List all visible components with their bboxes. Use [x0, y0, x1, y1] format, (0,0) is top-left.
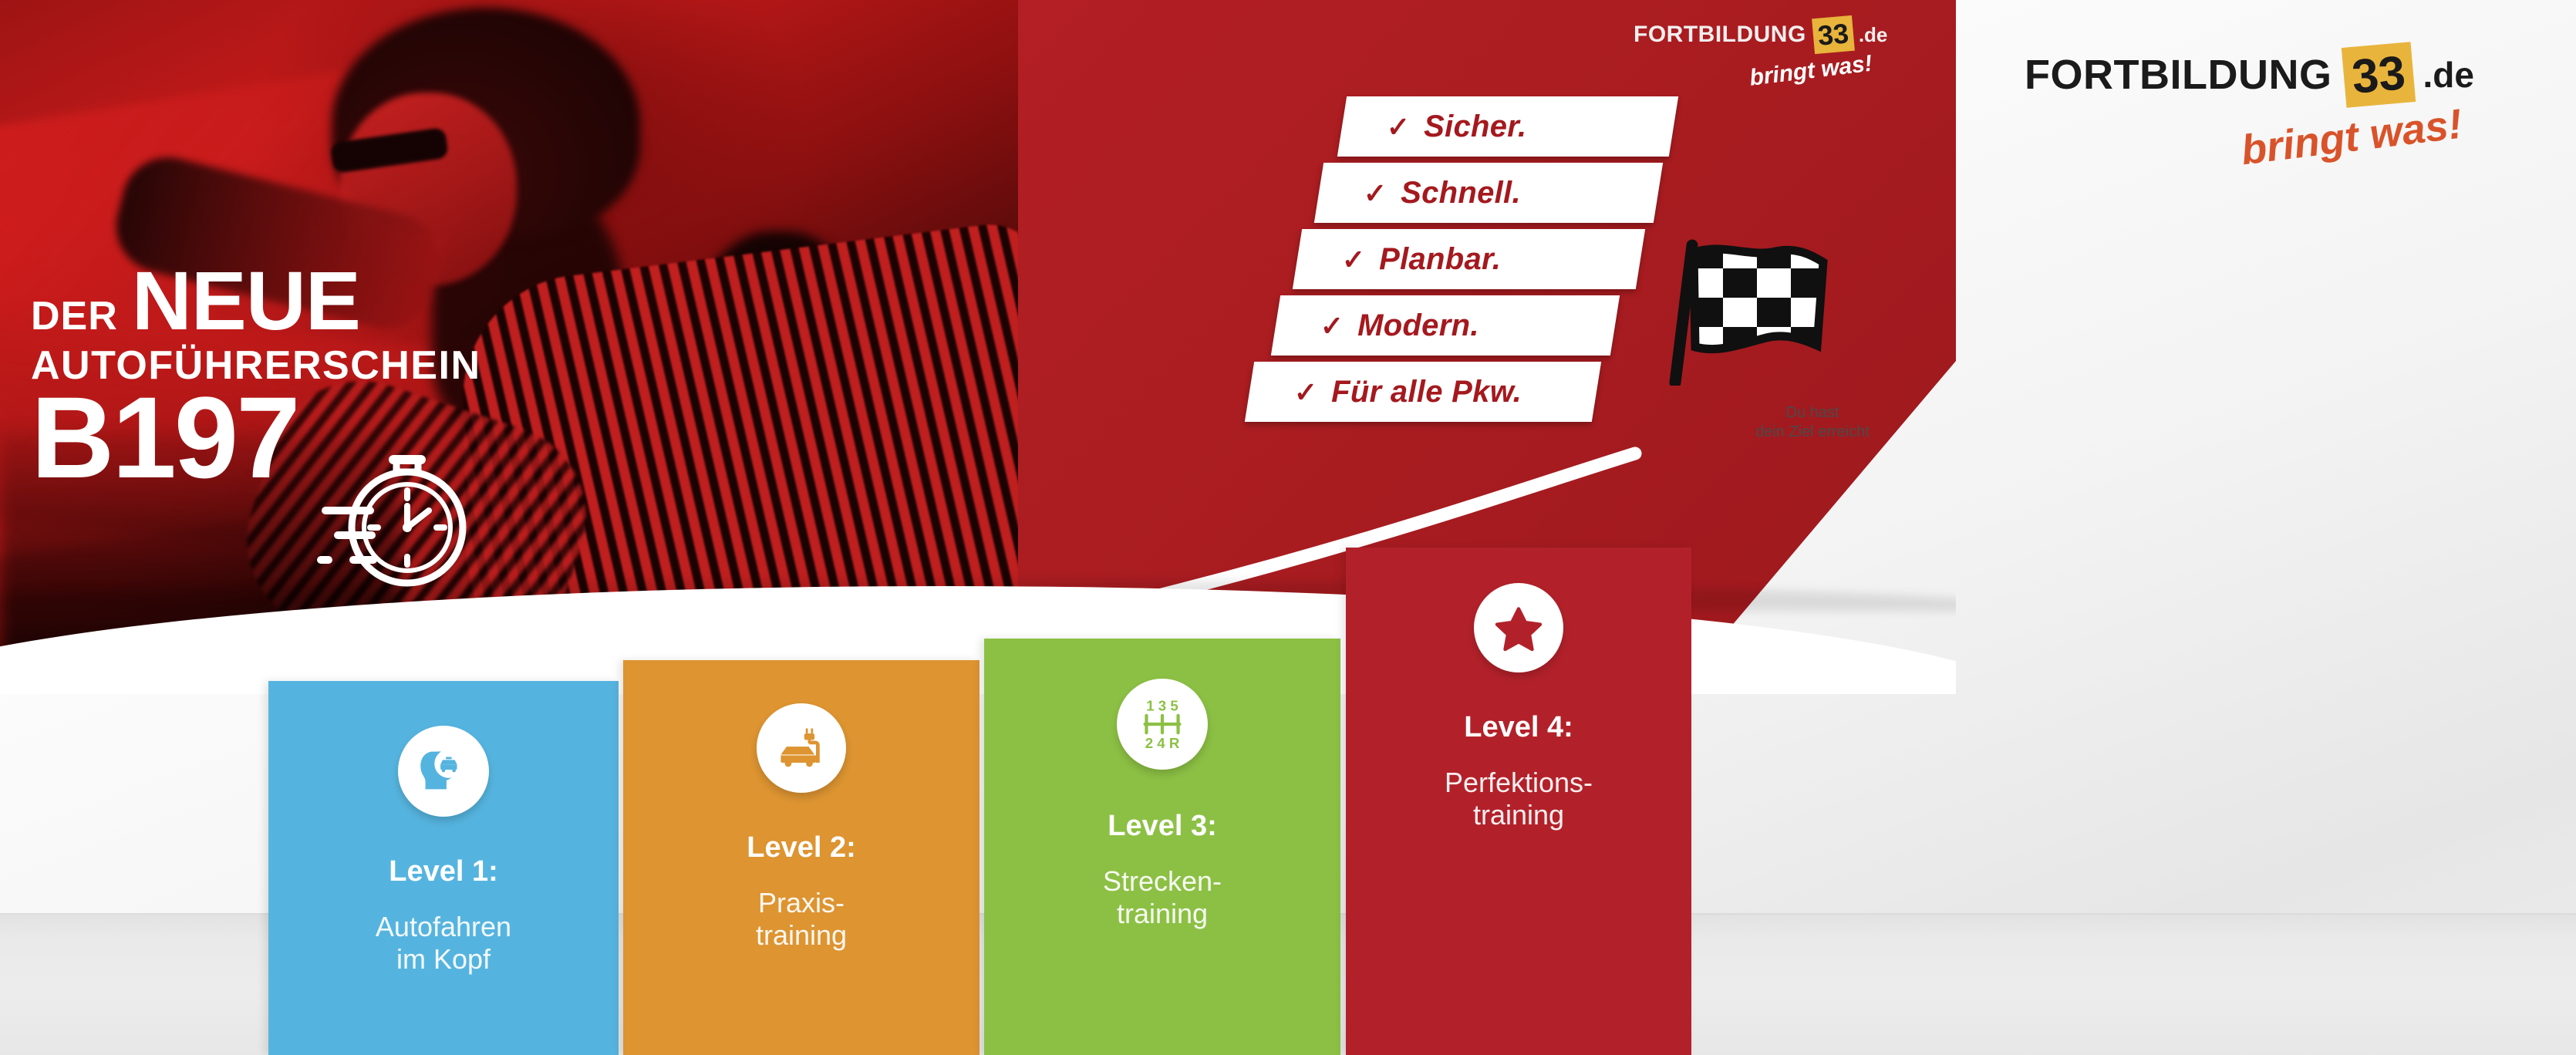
level-card-title: Level 3:	[984, 810, 1340, 843]
check-icon: ✓	[1294, 376, 1317, 408]
level-card-subtitle: Strecken- training	[984, 865, 1340, 931]
checklist-item: ✓Für alle Pkw.	[1245, 362, 1601, 422]
checkered-flag-icon	[1658, 231, 1836, 386]
level-card-3[interactable]: 1 3 5 2 4 R Level 3: Strecken- training	[984, 639, 1340, 1055]
checklist-label: Für alle Pkw.	[1331, 375, 1522, 410]
logo-33-badge: 33	[1812, 15, 1855, 54]
level-card-2[interactable]: Level 2: Praxis- training	[623, 660, 979, 1055]
check-icon: ✓	[1364, 177, 1387, 209]
level-card-subtitle-line1: Perfektions-	[1346, 767, 1691, 799]
benefits-checklist: ✓Sicher. ✓Schnell. ✓Planbar. ✓Modern. ✓F…	[1249, 96, 1681, 428]
level-card-title: Level 2:	[623, 831, 979, 865]
checklist-label: Modern.	[1357, 308, 1479, 343]
level-card-title: Level 4:	[1346, 711, 1691, 744]
checklist-label: Schnell.	[1401, 176, 1521, 211]
flag-caption-line2: dein Ziel erreicht	[1728, 423, 1897, 442]
check-icon: ✓	[1320, 309, 1344, 342]
level-card-subtitle: Autofahren im Kopf	[268, 911, 619, 976]
level-card-subtitle: Perfektions- training	[1346, 767, 1691, 832]
logo-tld: .de	[2423, 54, 2473, 96]
gear-bottom-labels: 2 4 R	[1145, 735, 1180, 751]
check-icon: ✓	[1387, 110, 1410, 143]
checklist-label: Planbar.	[1379, 242, 1501, 277]
hero-logo[interactable]: FORTBILDUNG 33 .de bringt was!	[1634, 17, 1887, 83]
checklist-item: ✓Sicher.	[1337, 96, 1678, 157]
level-card-subtitle-line2: training	[984, 898, 1340, 930]
level-card-4[interactable]: Level 4: Perfektions- training	[1346, 548, 1691, 1055]
level-card-title: Level 1:	[268, 855, 619, 888]
level-card-subtitle-line1: Praxis-	[623, 887, 979, 919]
level-card-subtitle-line2: training	[1346, 799, 1691, 831]
gear-top-labels: 1 3 5	[1146, 697, 1178, 713]
logo-wordmark: FORTBILDUNG	[2025, 51, 2332, 99]
level-card-subtitle: Praxis- training	[623, 887, 979, 952]
electric-car-plug-icon	[757, 703, 846, 793]
head-with-car-icon	[398, 726, 489, 817]
level-card-subtitle-line2: training	[623, 919, 979, 952]
level-card-1[interactable]: Level 1: Autofahren im Kopf	[268, 681, 619, 1055]
logo-33-badge: 33	[2342, 42, 2416, 108]
check-icon: ✓	[1342, 243, 1365, 275]
checklist-item: ✓Modern.	[1271, 295, 1620, 356]
flag-caption-line1: Du hast	[1728, 403, 1897, 423]
promo-banner: DER NEUE AUTOFÜHRERSCHEIN B197 ✓Sic	[0, 0, 2576, 1055]
main-logo[interactable]: FORTBILDUNG 33 .de bringt was!	[2025, 45, 2474, 160]
flag-caption: Du hast dein Ziel erreicht	[1728, 403, 1897, 442]
gear-shift-pattern-icon: 1 3 5 2 4 R	[1117, 679, 1208, 770]
stopwatch-speed-icon	[316, 436, 478, 598]
star-icon	[1474, 583, 1563, 672]
level-card-subtitle-line1: Strecken-	[984, 865, 1340, 898]
logo-wordmark: FORTBILDUNG	[1634, 22, 1806, 48]
checklist-item: ✓Schnell.	[1314, 163, 1663, 223]
level-card-subtitle-line1: Autofahren	[268, 911, 619, 943]
level-card-subtitle-line2: im Kopf	[268, 943, 619, 976]
checklist-label: Sicher.	[1424, 110, 1526, 144]
headline-neue: NEUE	[132, 262, 360, 339]
checklist-item: ✓Planbar.	[1293, 229, 1645, 289]
headline-der: DER	[31, 293, 118, 339]
logo-tld: .de	[1859, 23, 1888, 47]
